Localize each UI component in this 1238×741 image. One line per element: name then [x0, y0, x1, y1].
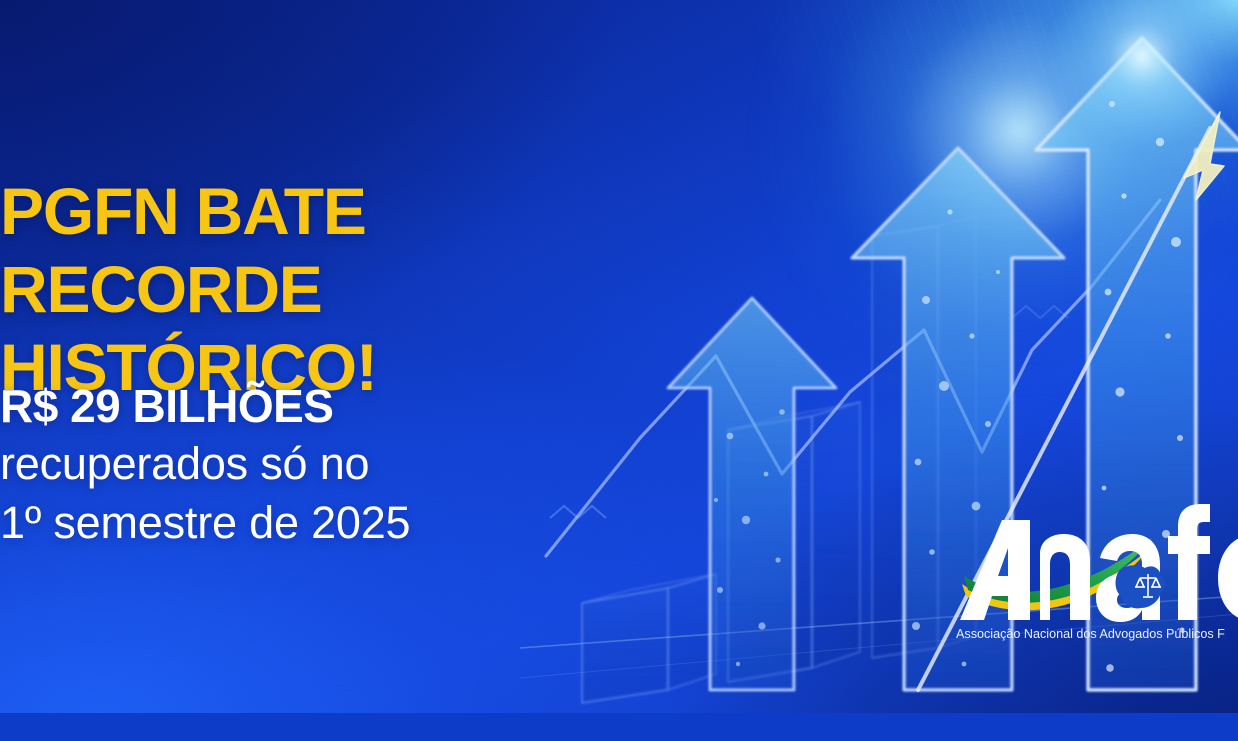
- amount-text: R$ 29 BILHÕES: [0, 378, 660, 434]
- headline-block: PGFN BATE RECORDE HISTÓRICO!: [0, 172, 660, 406]
- promo-banner: PGFN BATE RECORDE HISTÓRICO! R$ 29 BILHÕ…: [0, 0, 1238, 741]
- footer-bar: [0, 713, 1238, 741]
- anafe-logo: Associação Nacional dos Advogados Públic…: [952, 498, 1238, 648]
- logo-tagline: Associação Nacional dos Advogados Públic…: [956, 627, 1225, 641]
- page-title: PGFN BATE RECORDE HISTÓRICO!: [0, 172, 660, 406]
- subhead-block: R$ 29 BILHÕES recuperados só no 1º semes…: [0, 378, 660, 552]
- subhead-body: recuperados só no 1º semestre de 2025: [0, 434, 660, 552]
